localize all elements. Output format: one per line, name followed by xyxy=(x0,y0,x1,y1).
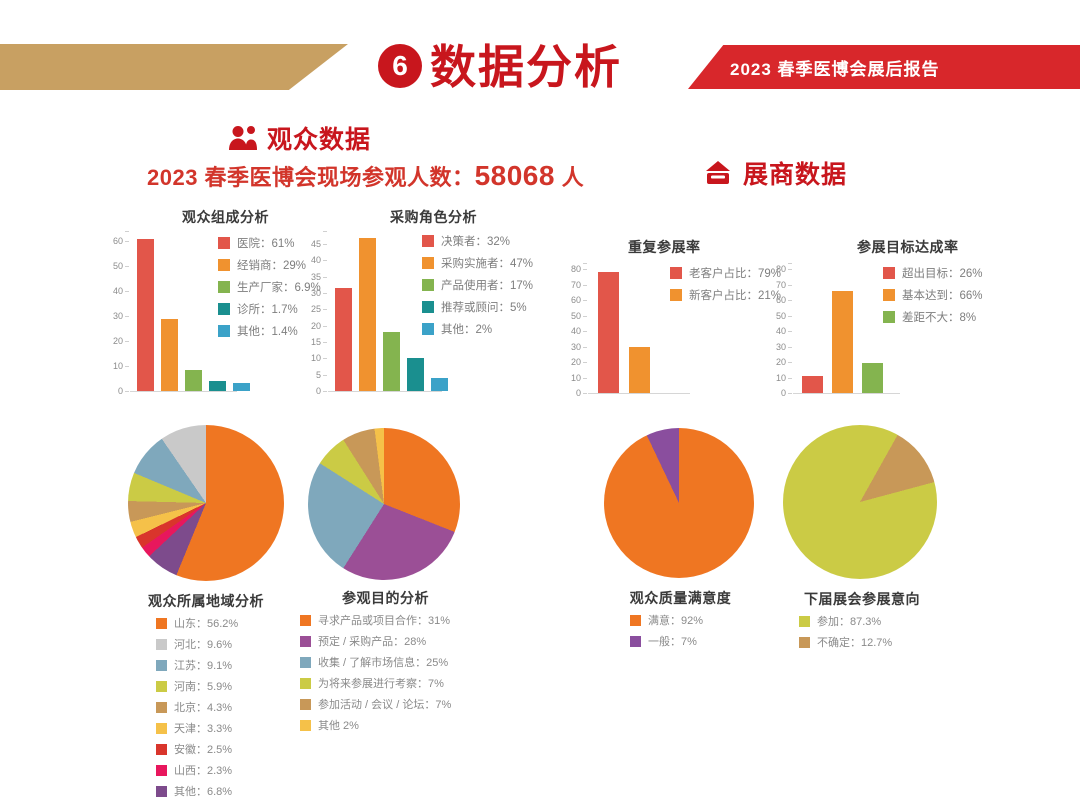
y-tick-mark xyxy=(583,347,587,348)
chart-visitor-quality: 观众质量满意度满意：92%一般：7% xyxy=(604,428,756,580)
gold-accent-bar xyxy=(0,44,348,90)
chart-title: 观众质量满意度 xyxy=(578,588,783,608)
bar xyxy=(629,347,650,393)
y-tick-label: 50 xyxy=(562,311,581,321)
legend-item: 河北：9.6% xyxy=(156,636,238,652)
legend-swatch xyxy=(300,699,311,710)
legend-label: 诊所：1.7% xyxy=(237,301,298,317)
chart-repeat-exhibit-rate: 重复参展率01020304050607080老客户占比：79%新客户占比：21% xyxy=(560,235,760,410)
chart-visitor-composition: 观众组成分析0102030405060医院：61%经销商：29%生产厂家：6.9… xyxy=(100,205,300,410)
legend-swatch xyxy=(422,235,434,247)
chart-title: 重复参展率 xyxy=(628,237,701,257)
legend-label: 医院：61% xyxy=(237,235,295,251)
plot-area: 0102030405060 xyxy=(130,231,215,391)
legend-swatch xyxy=(156,660,167,671)
y-tick-label: 0 xyxy=(767,388,786,398)
x-axis xyxy=(793,393,900,394)
legend-item: 参加活动 / 会议 / 论坛：7% xyxy=(300,696,451,712)
chart-title: 观众所属地域分析 xyxy=(106,591,306,611)
chart-visit-purpose: 参观目的分析寻求产品或项目合作：31%预定 / 采购产品：28%收集 / 了解市… xyxy=(308,428,463,583)
pie-graphic xyxy=(308,428,460,580)
chart-legend: 超出目标：26%基本达到：66%差距不大：8% xyxy=(883,265,983,331)
y-tick-mark xyxy=(323,326,327,327)
legend-label: 河南：5.9% xyxy=(174,678,232,694)
legend-label: 北京：4.3% xyxy=(174,699,232,715)
chart-title: 观众组成分析 xyxy=(182,207,269,227)
booth-icon xyxy=(702,160,734,186)
y-tick-mark xyxy=(583,285,587,286)
legend-swatch xyxy=(218,325,230,337)
visitor-count-prefix: 2023 春季医博会现场参观人数： xyxy=(147,165,475,190)
legend-swatch xyxy=(300,636,311,647)
pie-graphic xyxy=(128,425,284,581)
y-tick-label: 0 xyxy=(302,386,321,396)
y-tick-mark xyxy=(583,316,587,317)
legend-swatch xyxy=(670,267,682,279)
y-tick-mark xyxy=(125,366,129,367)
y-tick-label: 80 xyxy=(562,264,581,274)
legend-label: 河北：9.6% xyxy=(174,636,232,652)
y-tick-label: 0 xyxy=(102,386,123,396)
bar xyxy=(862,363,883,393)
y-tick-label: 30 xyxy=(767,342,786,352)
chart-exhibit-goal-rate: 参展目标达成率01020304050607080超出目标：26%基本达到：66%… xyxy=(765,235,980,410)
legend-label: 其他：1.4% xyxy=(237,323,298,339)
y-tick-mark xyxy=(125,341,129,342)
legend-label: 其他 2% xyxy=(318,717,359,733)
pie-graphic xyxy=(783,425,937,579)
y-tick-label: 5 xyxy=(302,370,321,380)
legend-item: 北京：4.3% xyxy=(156,699,238,715)
bar xyxy=(161,319,178,392)
legend-swatch xyxy=(156,618,167,629)
legend-item: 收集 / 了解市场信息：25% xyxy=(300,654,451,670)
chart-next-show-intent: 下届展会参展意向参加：87.3%不确定：12.7% xyxy=(783,425,941,583)
bar xyxy=(431,378,448,391)
page-title: 数据分析 xyxy=(430,36,622,98)
y-tick-label: 40 xyxy=(102,286,123,296)
y-tick-label: 20 xyxy=(102,336,123,346)
bar xyxy=(383,332,400,391)
chart-title: 下届展会参展意向 xyxy=(757,589,967,609)
legend-label: 不确定：12.7% xyxy=(817,634,892,650)
legend-item: 产品使用者：17% xyxy=(422,277,533,293)
legend-swatch xyxy=(156,702,167,713)
y-tick-mark xyxy=(583,300,587,301)
y-tick-mark xyxy=(788,285,792,286)
legend-swatch xyxy=(156,765,167,776)
y-tick-mark xyxy=(323,260,327,261)
chart-title: 参观目的分析 xyxy=(278,588,493,608)
legend-label: 天津：3.3% xyxy=(174,720,232,736)
legend-label: 江苏：9.1% xyxy=(174,657,232,673)
y-tick-label: 15 xyxy=(302,337,321,347)
legend-swatch xyxy=(670,289,682,301)
chart-title: 采购角色分析 xyxy=(390,207,477,227)
legend-label: 安徽：2.5% xyxy=(174,741,232,757)
y-axis-top-mark xyxy=(788,263,792,264)
chart-purchase-role: 采购角色分析051015202530354045决策者：32%采购实施者：47%… xyxy=(300,205,505,410)
legend-swatch xyxy=(218,237,230,249)
legend-label: 一般：7% xyxy=(648,633,697,649)
y-tick-label: 50 xyxy=(102,261,123,271)
legend-swatch xyxy=(218,259,230,271)
legend-label: 参加活动 / 会议 / 论坛：7% xyxy=(318,696,451,712)
legend-item: 不确定：12.7% xyxy=(799,634,892,650)
y-tick-label: 60 xyxy=(102,236,123,246)
y-tick-mark xyxy=(323,375,327,376)
legend-item: 天津：3.3% xyxy=(156,720,238,736)
y-tick-mark xyxy=(125,316,129,317)
visitor-count-headline: 2023 春季医博会现场参观人数：58068 人 xyxy=(147,160,584,192)
legend-swatch xyxy=(422,257,434,269)
y-tick-mark xyxy=(788,347,792,348)
legend-label: 满意：92% xyxy=(648,612,703,628)
x-axis xyxy=(588,393,690,394)
legend-label: 超出目标：26% xyxy=(902,265,983,281)
legend-swatch xyxy=(422,301,434,313)
x-axis xyxy=(328,391,442,392)
legend-item: 推荐或顾问：5% xyxy=(422,299,533,315)
legend-swatch xyxy=(156,681,167,692)
chart-legend: 决策者：32%采购实施者：47%产品使用者：17%推荐或顾问：5%其他：2% xyxy=(422,233,533,343)
legend-swatch xyxy=(156,723,167,734)
legend-item: 决策者：32% xyxy=(422,233,533,249)
chart-title: 参展目标达成率 xyxy=(857,237,959,257)
legend-label: 基本达到：66% xyxy=(902,287,983,303)
legend-item: 一般：7% xyxy=(630,633,703,649)
section-heading-exhibitor: 展商数据 xyxy=(702,155,847,191)
y-tick-label: 10 xyxy=(302,353,321,363)
y-tick-mark xyxy=(788,300,792,301)
legend-label: 收集 / 了解市场信息：25% xyxy=(318,654,448,670)
y-tick-label: 25 xyxy=(302,304,321,314)
report-banner-label: 2023 春季医博会展后报告 xyxy=(730,45,940,89)
chart-legend: 寻求产品或项目合作：31%预定 / 采购产品：28%收集 / 了解市场信息：25… xyxy=(300,612,451,738)
bar xyxy=(335,288,352,391)
y-tick-mark xyxy=(583,331,587,332)
legend-item: 河南：5.9% xyxy=(156,678,238,694)
section-heading-exhibitor-label: 展商数据 xyxy=(743,155,847,191)
legend-label: 产品使用者：17% xyxy=(441,277,533,293)
bar xyxy=(407,358,424,391)
legend-label: 经销商：29% xyxy=(237,257,306,273)
legend-swatch xyxy=(883,311,895,323)
y-tick-mark xyxy=(788,269,792,270)
y-tick-label: 60 xyxy=(562,295,581,305)
legend-item: 其他：6.8% xyxy=(156,783,238,799)
y-tick-label: 20 xyxy=(767,357,786,367)
legend-label: 山东：56.2% xyxy=(174,615,238,631)
legend-swatch xyxy=(156,744,167,755)
infographic-page: 6 数据分析 2023 春季医博会展后报告 观众数据 展商数据 2023 春季医… xyxy=(0,0,1080,809)
legend-swatch xyxy=(218,303,230,315)
legend-item: 满意：92% xyxy=(630,612,703,628)
y-tick-mark xyxy=(125,241,129,242)
y-tick-label: 40 xyxy=(767,326,786,336)
y-tick-label: 30 xyxy=(302,288,321,298)
y-tick-label: 60 xyxy=(767,295,786,305)
legend-item: 山东：56.2% xyxy=(156,615,238,631)
y-tick-label: 70 xyxy=(562,280,581,290)
plot-area: 01020304050607080 xyxy=(588,263,668,393)
legend-swatch xyxy=(883,289,895,301)
y-axis-top-mark xyxy=(125,231,129,232)
y-tick-mark xyxy=(323,293,327,294)
legend-swatch xyxy=(300,720,311,731)
bar xyxy=(802,376,823,393)
y-tick-label: 10 xyxy=(767,373,786,383)
y-axis-top-mark xyxy=(323,231,327,232)
legend-swatch xyxy=(799,616,810,627)
legend-label: 其他：2% xyxy=(441,321,492,337)
y-tick-label: 10 xyxy=(102,361,123,371)
legend-item: 安徽：2.5% xyxy=(156,741,238,757)
plot-area: 01020304050607080 xyxy=(793,263,878,393)
pie-graphic xyxy=(604,428,754,578)
chart-legend: 参加：87.3%不确定：12.7% xyxy=(799,613,892,655)
legend-item: 参加：87.3% xyxy=(799,613,892,629)
legend-item: 预定 / 采购产品：28% xyxy=(300,633,451,649)
y-tick-label: 40 xyxy=(562,326,581,336)
legend-swatch xyxy=(883,267,895,279)
section-number-badge: 6 xyxy=(378,44,422,88)
legend-swatch xyxy=(300,657,311,668)
y-tick-mark xyxy=(788,316,792,317)
y-axis-top-mark xyxy=(583,263,587,264)
bar xyxy=(233,383,250,391)
y-tick-mark xyxy=(788,331,792,332)
legend-item: 为将来参展进行考察：7% xyxy=(300,675,451,691)
y-tick-label: 50 xyxy=(767,311,786,321)
legend-item: 其他：2% xyxy=(422,321,533,337)
legend-label: 参加：87.3% xyxy=(817,613,881,629)
y-tick-label: 30 xyxy=(102,311,123,321)
legend-swatch xyxy=(799,637,810,648)
legend-swatch xyxy=(300,678,311,689)
chart-legend: 满意：92%一般：7% xyxy=(630,612,703,654)
legend-label: 寻求产品或项目合作：31% xyxy=(318,612,450,628)
visitor-count-number: 58068 xyxy=(475,160,555,191)
chart-legend: 山东：56.2%河北：9.6%江苏：9.1%河南：5.9%北京：4.3%天津：3… xyxy=(156,615,238,804)
plot-area: 051015202530354045 xyxy=(328,231,420,391)
y-tick-label: 45 xyxy=(302,239,321,249)
legend-label: 山西：2.3% xyxy=(174,762,232,778)
page-header: 6 数据分析 2023 春季医博会展后报告 xyxy=(0,40,1080,94)
chart-visitor-region: 观众所属地域分析山东：56.2%河北：9.6%江苏：9.1%河南：5.9%北京：… xyxy=(128,425,288,585)
bar xyxy=(185,370,202,391)
legend-swatch xyxy=(422,279,434,291)
y-tick-label: 20 xyxy=(562,357,581,367)
y-tick-label: 20 xyxy=(302,321,321,331)
people-icon xyxy=(228,125,258,151)
legend-swatch xyxy=(218,281,230,293)
legend-swatch xyxy=(300,615,311,626)
legend-swatch xyxy=(422,323,434,335)
legend-swatch xyxy=(630,636,641,647)
legend-label: 其他：6.8% xyxy=(174,783,232,799)
legend-item: 采购实施者：47% xyxy=(422,255,533,271)
y-tick-mark xyxy=(583,378,587,379)
y-tick-label: 70 xyxy=(767,280,786,290)
legend-swatch xyxy=(156,639,167,650)
y-tick-mark xyxy=(583,362,587,363)
y-tick-label: 10 xyxy=(562,373,581,383)
section-heading-visitor-label: 观众数据 xyxy=(267,120,371,156)
y-tick-label: 0 xyxy=(562,388,581,398)
legend-item: 寻求产品或项目合作：31% xyxy=(300,612,451,628)
y-tick-mark xyxy=(788,393,792,394)
y-tick-label: 80 xyxy=(767,264,786,274)
y-tick-mark xyxy=(125,391,129,392)
legend-label: 预定 / 采购产品：28% xyxy=(318,633,426,649)
y-tick-mark xyxy=(583,393,587,394)
y-tick-label: 35 xyxy=(302,272,321,282)
y-tick-mark xyxy=(323,358,327,359)
legend-item: 超出目标：26% xyxy=(883,265,983,281)
bar xyxy=(137,239,154,392)
legend-label: 决策者：32% xyxy=(441,233,510,249)
y-tick-mark xyxy=(323,309,327,310)
bar xyxy=(598,272,619,393)
bar xyxy=(359,238,376,391)
y-tick-mark xyxy=(323,277,327,278)
bar xyxy=(209,381,226,391)
legend-label: 采购实施者：47% xyxy=(441,255,533,271)
section-heading-visitor: 观众数据 xyxy=(228,120,371,156)
legend-item: 基本达到：66% xyxy=(883,287,983,303)
visitor-count-suffix: 人 xyxy=(562,165,585,190)
legend-item: 山西：2.3% xyxy=(156,762,238,778)
y-tick-mark xyxy=(788,378,792,379)
y-tick-mark xyxy=(125,266,129,267)
legend-item: 其他 2% xyxy=(300,717,451,733)
legend-label: 差距不大：8% xyxy=(902,309,976,325)
legend-item: 差距不大：8% xyxy=(883,309,983,325)
y-tick-mark xyxy=(583,269,587,270)
y-tick-mark xyxy=(323,342,327,343)
y-tick-label: 40 xyxy=(302,255,321,265)
y-tick-label: 30 xyxy=(562,342,581,352)
y-tick-mark xyxy=(788,362,792,363)
legend-label: 推荐或顾问：5% xyxy=(441,299,527,315)
legend-swatch xyxy=(630,615,641,626)
y-tick-mark xyxy=(323,244,327,245)
bar xyxy=(832,291,853,393)
y-tick-mark xyxy=(125,291,129,292)
legend-label: 为将来参展进行考察：7% xyxy=(318,675,444,691)
legend-item: 江苏：9.1% xyxy=(156,657,238,673)
legend-swatch xyxy=(156,786,167,797)
y-tick-mark xyxy=(323,391,327,392)
x-axis xyxy=(130,391,237,392)
